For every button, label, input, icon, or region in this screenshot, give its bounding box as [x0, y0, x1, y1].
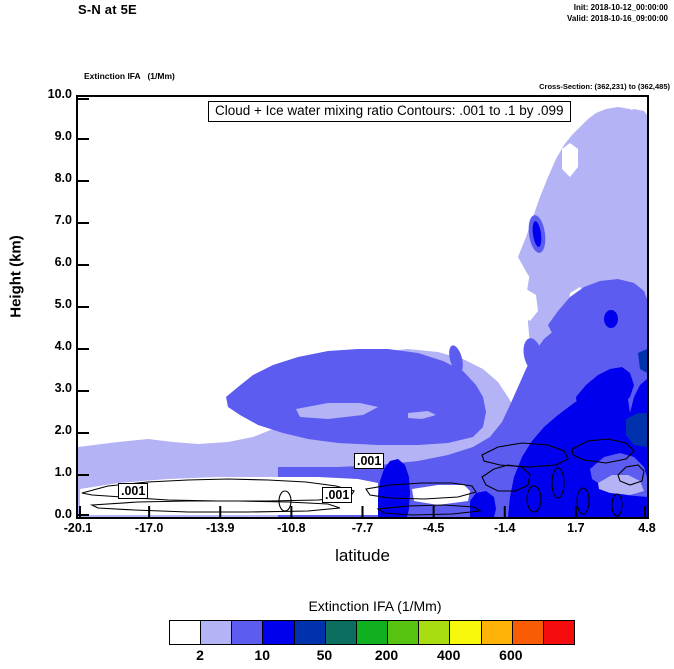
y-axis-tick: 5.0	[32, 297, 72, 311]
y-axis-tick: 8.0	[32, 171, 72, 185]
contour-value-label: .001	[322, 487, 352, 503]
colorbar-swatch	[357, 621, 388, 644]
annotation-line-extinction: Extinction IFA (1/Mm)	[84, 71, 235, 82]
colorbar-tick: 400	[424, 647, 474, 663]
colorbar-tick: 10	[237, 647, 287, 663]
colorbar-strip	[169, 620, 575, 645]
run-time-block: Init: 2018-10-12_00:00:00 Valid: 2018-10…	[567, 2, 668, 24]
colorbar-swatch	[201, 621, 232, 644]
y-axis-tick: 4.0	[32, 339, 72, 353]
contour-title-box: Cloud + Ice water mixing ratio Contours:…	[208, 101, 571, 122]
valid-time-label: Valid: 2018-10-16_09:00:00	[567, 13, 668, 24]
colorbar-swatch	[170, 621, 201, 644]
y-axis-tick: 6.0	[32, 255, 72, 269]
x-axis-tick: -1.4	[475, 521, 535, 535]
colorbar-swatch	[295, 621, 326, 644]
colorbar-swatch	[232, 621, 263, 644]
colorbar-swatch	[326, 621, 357, 644]
colorbar-tick-labels: 21050200400600	[169, 647, 573, 669]
y-axis-tick: 7.0	[32, 213, 72, 227]
y-axis-tick: 10.0	[32, 87, 72, 101]
colorbar-tick: 600	[486, 647, 536, 663]
x-axis-tick: -4.5	[404, 521, 464, 535]
colorbar-tick: 2	[175, 647, 225, 663]
x-axis-tick: 1.7	[546, 521, 606, 535]
colorbar-swatch	[419, 621, 450, 644]
y-axis-tick: 0.0	[32, 507, 72, 521]
y-axis-tick-labels: 10.09.08.07.06.05.04.03.02.01.00.0	[24, 95, 72, 519]
init-time-label: Init: 2018-10-12_00:00:00	[567, 2, 668, 13]
x-axis-tick-labels: -20.1-17.0-13.9-10.8-7.7-4.5-1.41.74.8	[76, 521, 649, 539]
contour-value-label: .001	[354, 453, 384, 469]
y-axis-tick: 1.0	[32, 465, 72, 479]
colorbar-tick: 50	[299, 647, 349, 663]
x-axis-tick: -20.1	[48, 521, 108, 535]
colorbar-swatch	[388, 621, 419, 644]
cross-section-label: Cross-Section: (362,231) to (362,485)	[539, 82, 670, 91]
x-axis-tick: 4.8	[617, 521, 674, 535]
x-axis-title: latitude	[76, 546, 649, 566]
x-axis-tick: -10.8	[261, 521, 321, 535]
colorbar-swatch	[513, 621, 544, 644]
y-axis-title: Height (km)	[8, 217, 25, 337]
colorbar-swatch	[544, 621, 574, 644]
page-title: S-N at 5E	[78, 2, 137, 17]
x-axis-tick: -13.9	[190, 521, 250, 535]
y-axis-tick: 3.0	[32, 381, 72, 395]
colorbar-swatch	[482, 621, 513, 644]
colorbar-swatch	[263, 621, 294, 644]
colorbar-swatch	[450, 621, 481, 644]
contour-value-label: .001	[118, 483, 148, 499]
colorbar-tick: 200	[362, 647, 412, 663]
y-axis-tick: 2.0	[32, 423, 72, 437]
x-axis-tick: -7.7	[333, 521, 393, 535]
colorbar-title: Extinction IFA (1/Mm)	[160, 598, 590, 614]
y-axis-tick: 9.0	[32, 129, 72, 143]
x-axis-tick: -17.0	[119, 521, 179, 535]
